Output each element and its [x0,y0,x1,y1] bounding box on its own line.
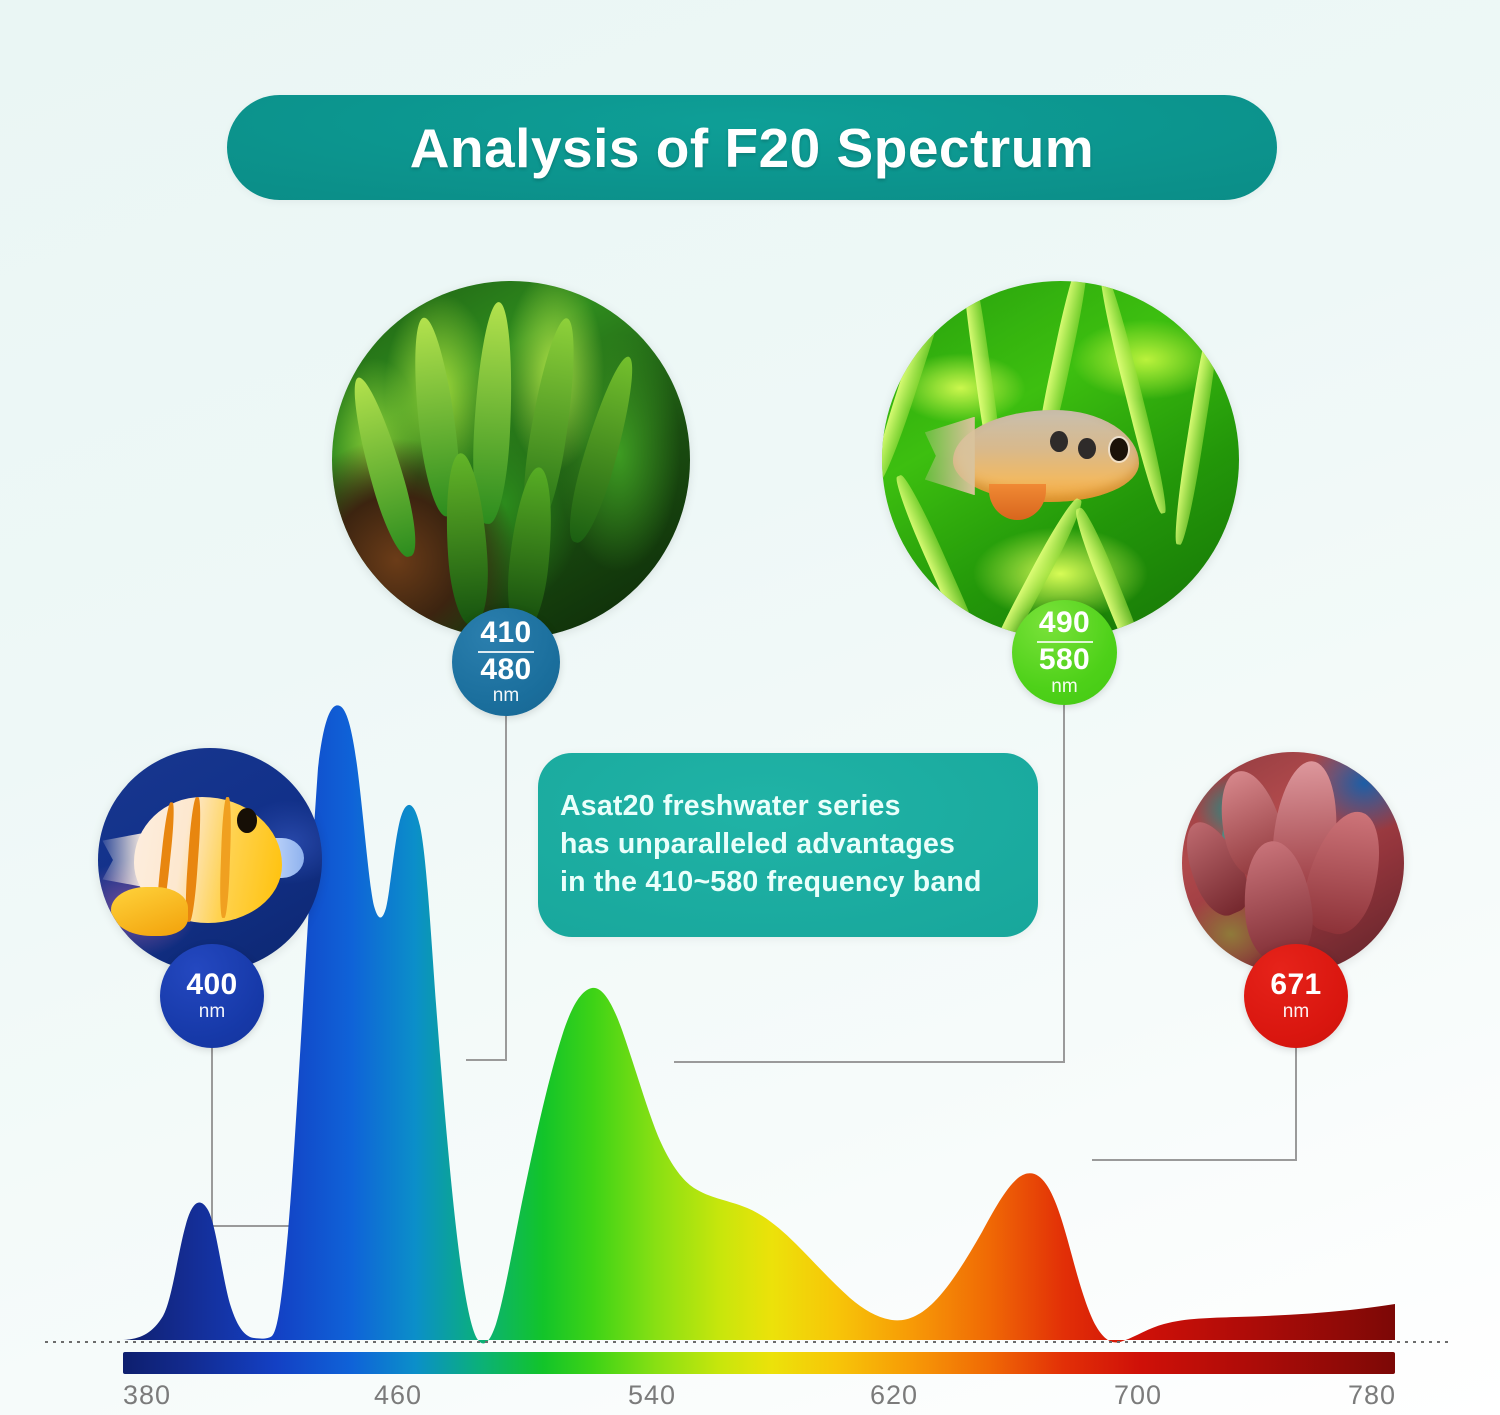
page-title-banner: Analysis of F20 Spectrum [227,95,1277,200]
copperband-butterflyfish-photo [98,748,322,972]
wavelength-badge-400[interactable]: 400 nm [160,944,264,1048]
axis-tick-780: 780 [1348,1380,1396,1411]
badge-value-480: 480 [480,654,531,686]
page-title: Analysis of F20 Spectrum [410,116,1094,180]
callout-line-2: has unparalleled advantages [560,826,982,864]
spectrum-color-bar [123,1352,1395,1374]
wavelength-badge-410-480[interactable]: 410 480 nm [452,608,560,716]
callout-text: Asat20 freshwater series has unparallele… [538,788,982,902]
aquatic-plant-photo [332,281,690,639]
badge-value-490: 490 [1039,607,1090,639]
badge-value-580: 580 [1039,644,1090,676]
badge-value-671: 671 [1270,969,1321,1001]
callout-box: Asat20 freshwater series has unparallele… [538,753,1038,937]
butterflyfish-eye [237,808,257,833]
badge-unit: nm [1283,1002,1309,1023]
badge-unit: nm [199,1002,225,1023]
infographic-stage: Analysis of F20 Spectrum [0,0,1500,1415]
butterflyfish-pectoral-fin [111,887,187,936]
baseline-dotted-axis [45,1341,1453,1344]
axis-tick-620: 620 [870,1380,918,1411]
badge-unit: nm [1051,677,1077,698]
axis-tick-460: 460 [374,1380,422,1411]
badge-value-400: 400 [186,969,237,1001]
wavelength-badge-671[interactable]: 671 nm [1244,944,1348,1048]
axis-tick-540: 540 [628,1380,676,1411]
cichlid-fish-in-green-grass-photo [882,281,1239,638]
callout-line-3: in the 410~580 frequency band [560,864,982,902]
axis-tick-380: 380 [123,1380,171,1411]
wavelength-badge-490-580[interactable]: 490 580 nm [1012,600,1117,705]
badge-unit: nm [493,686,519,707]
badge-value-410: 410 [480,617,531,649]
callout-line-1: Asat20 freshwater series [560,788,982,826]
axis-tick-700: 700 [1114,1380,1162,1411]
fish-spot [1050,431,1068,452]
red-coral-macroalgae-photo [1182,752,1404,974]
